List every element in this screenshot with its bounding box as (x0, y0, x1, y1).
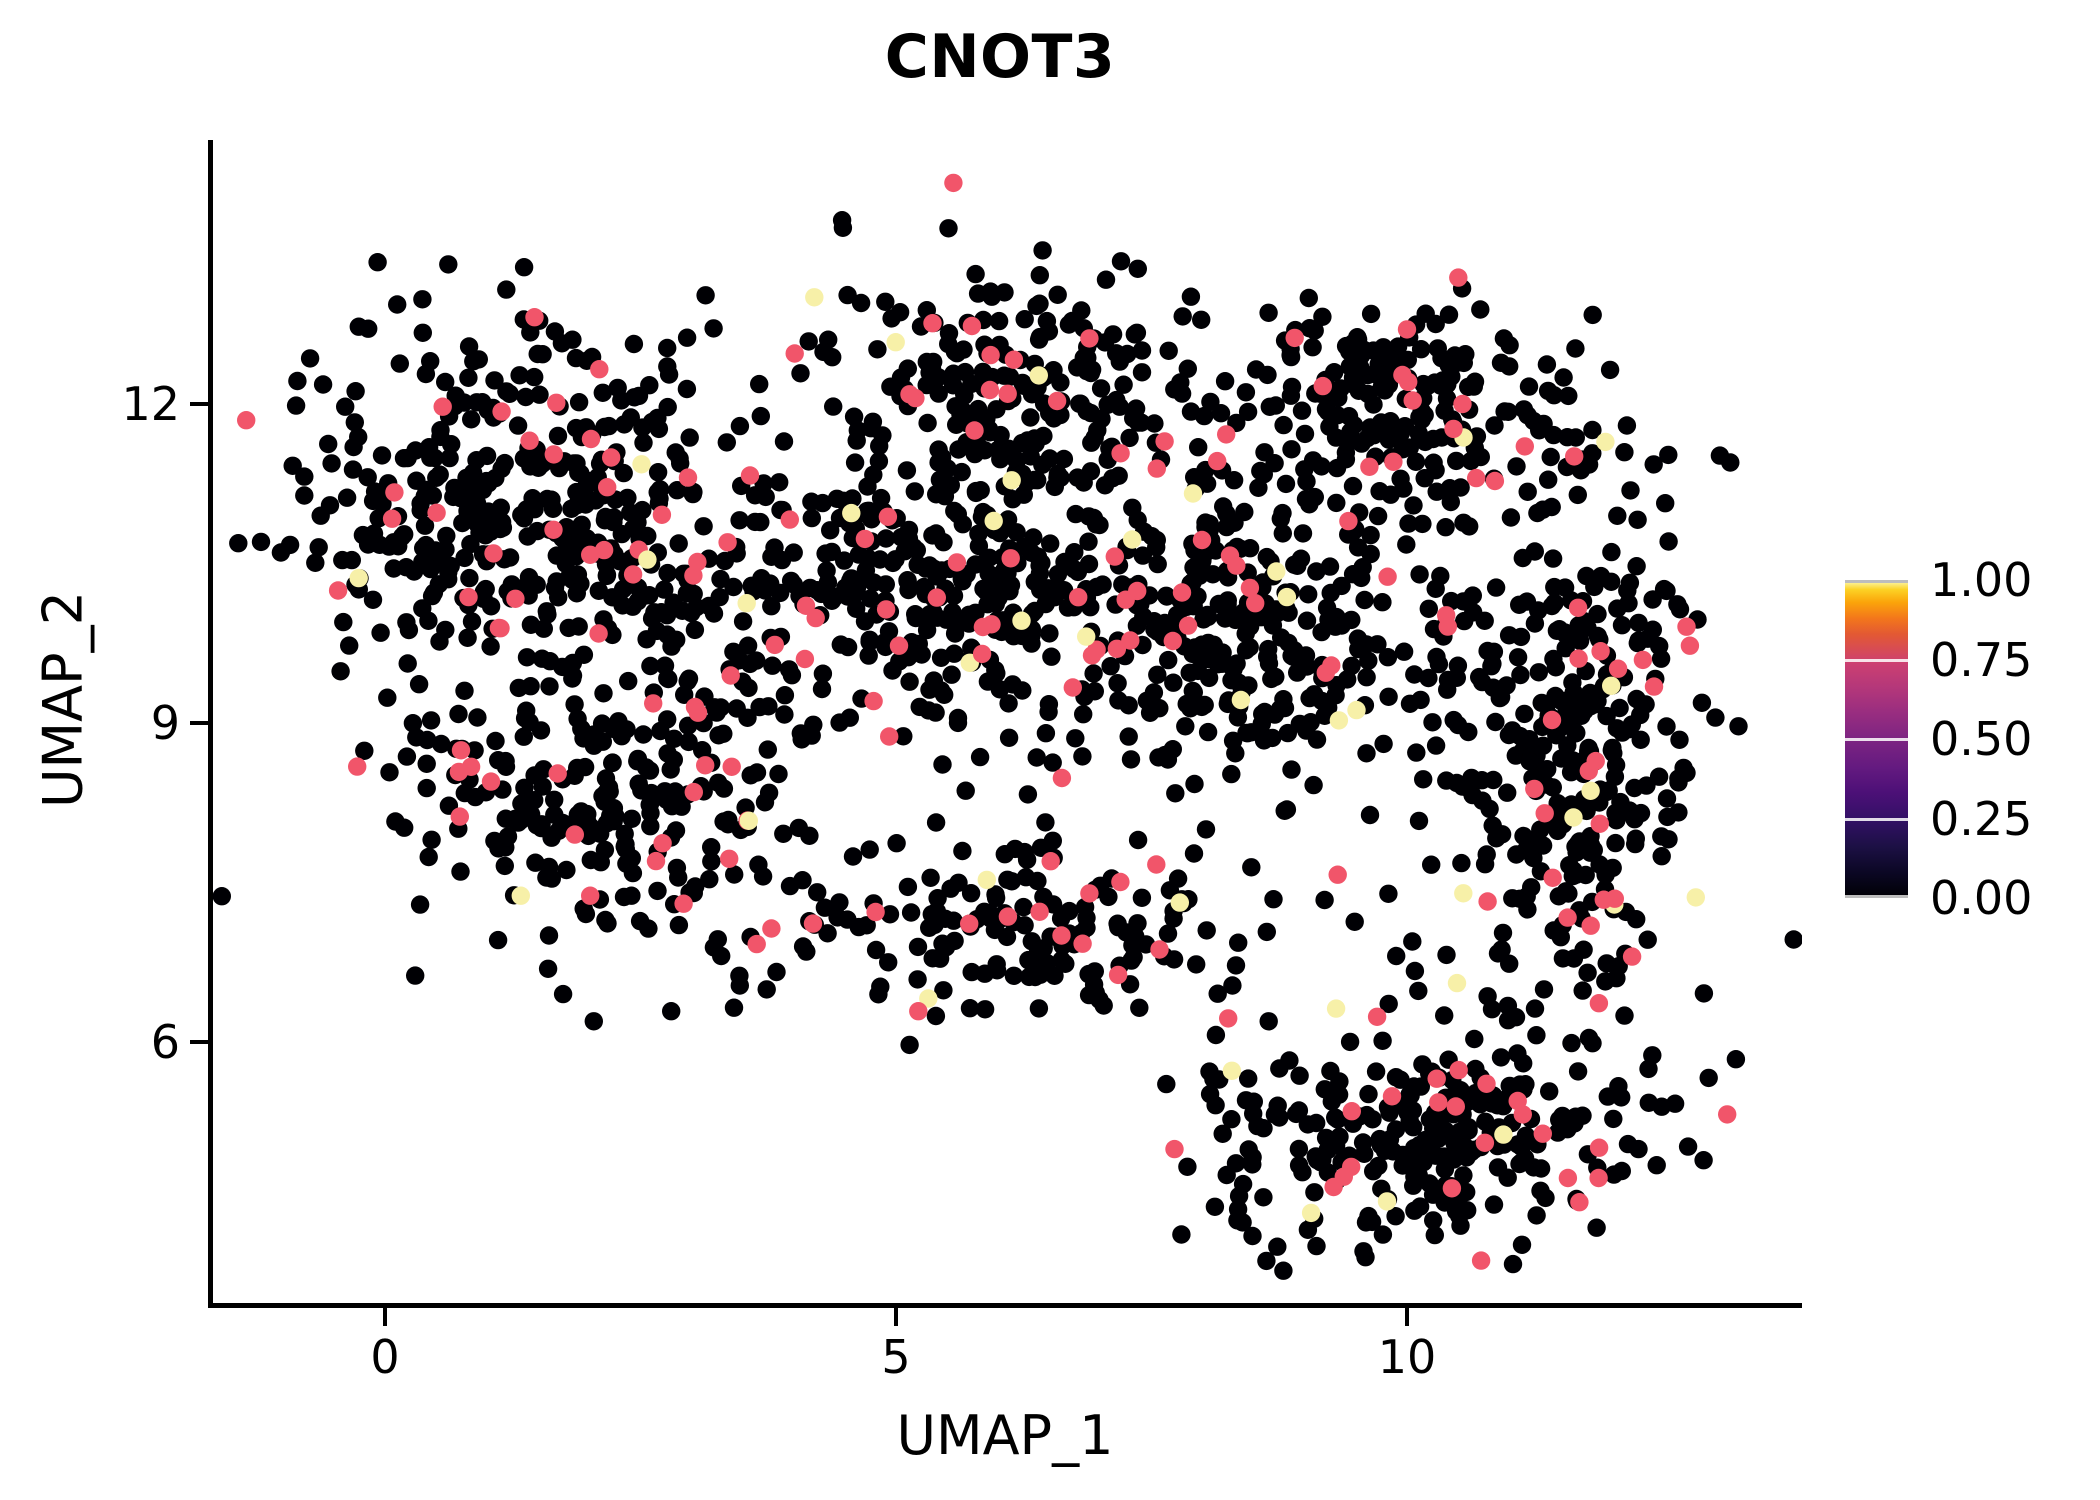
scatter-point (456, 784, 474, 802)
scatter-point (1700, 1069, 1718, 1087)
scatter-point (898, 571, 916, 589)
scatter-point (1361, 806, 1379, 824)
scatter-point (554, 985, 572, 1003)
scatter-point (523, 489, 541, 507)
scatter-point (666, 782, 684, 800)
scatter-point (953, 842, 971, 860)
scatter-point (1378, 568, 1396, 586)
scatter-point (1321, 557, 1339, 575)
scatter-point (819, 573, 837, 591)
scatter-point (1695, 984, 1713, 1002)
scatter-point (1477, 1075, 1495, 1093)
scatter-point (1507, 457, 1525, 475)
scatter-point (637, 758, 655, 776)
scatter-point (1424, 1119, 1442, 1137)
scatter-point (1075, 473, 1093, 491)
scatter-point (899, 359, 917, 377)
scatter-point (824, 397, 842, 415)
scatter-point (1073, 747, 1091, 765)
scatter-point (411, 494, 429, 512)
scatter-point (368, 253, 386, 271)
y-tick-mark (190, 721, 208, 725)
scatter-point (1274, 690, 1292, 708)
scatter-point (1509, 648, 1527, 666)
scatter-point (1293, 402, 1311, 420)
scatter-point (985, 512, 1003, 530)
scatter-point (1266, 668, 1284, 686)
scatter-point (770, 473, 788, 491)
scatter-point (496, 454, 514, 472)
scatter-point (547, 394, 565, 412)
scatter-point (1155, 432, 1173, 450)
scatter-point (725, 865, 743, 883)
scatter-point (902, 903, 920, 921)
scatter-point (484, 544, 502, 562)
scatter-point (1040, 624, 1058, 642)
scatter-point (1532, 1159, 1550, 1177)
scatter-point (1539, 382, 1557, 400)
scatter-point (625, 335, 643, 353)
scatter-point (525, 791, 543, 809)
scatter-point (767, 963, 785, 981)
scatter-point (397, 613, 415, 631)
scatter-point (1164, 632, 1182, 650)
scatter-point (455, 682, 473, 700)
scatter-point (1531, 1182, 1549, 1200)
scatter-point (832, 635, 850, 653)
scatter-point (1003, 471, 1021, 489)
scatter-point (1080, 884, 1098, 902)
scatter-point (1123, 499, 1141, 517)
scatter-point (1619, 1135, 1637, 1153)
scatter-point (437, 527, 455, 545)
scatter-point (900, 385, 918, 403)
scatter-point (1042, 852, 1060, 870)
scatter-point (1108, 674, 1126, 692)
scatter-point (898, 461, 916, 479)
scatter-point (920, 919, 938, 937)
scatter-point (1361, 526, 1379, 544)
scatter-point (1584, 306, 1602, 324)
scatter-point (1460, 517, 1478, 535)
scatter-point (1069, 588, 1087, 606)
scatter-point (1499, 403, 1517, 421)
scatter-point (1111, 444, 1129, 462)
scatter-point (722, 666, 740, 684)
scatter-point (1015, 843, 1033, 861)
scatter-point (814, 343, 832, 361)
scatter-point (949, 505, 967, 523)
scatter-point (738, 594, 756, 612)
scatter-point (1033, 241, 1051, 259)
scatter-point (975, 554, 993, 572)
scatter-point (491, 619, 509, 637)
scatter-point (355, 742, 373, 760)
scatter-point (949, 714, 967, 732)
scatter-point (1404, 1144, 1422, 1162)
scatter-point (808, 883, 826, 901)
scatter-point (557, 861, 575, 879)
scatter-point (558, 539, 576, 557)
scatter-point (823, 592, 841, 610)
scatter-point (1581, 782, 1599, 800)
scatter-point (1404, 496, 1422, 514)
scatter-point (385, 483, 403, 501)
scatter-point (1005, 967, 1023, 985)
scatter-point (459, 472, 477, 490)
scatter-point (1148, 666, 1166, 684)
scatter-point (1064, 678, 1082, 696)
scatter-point (598, 567, 616, 585)
scatter-point (1374, 338, 1392, 356)
scatter-point (1002, 549, 1020, 567)
scatter-point (1450, 1061, 1468, 1079)
scatter-point (1278, 800, 1296, 818)
scatter-point (1373, 417, 1391, 435)
scatter-point (1606, 768, 1624, 786)
scatter-point (1219, 591, 1237, 609)
scatter-point (1198, 921, 1216, 939)
scatter-point (946, 624, 964, 642)
scatter-point (619, 672, 637, 690)
scatter-point (682, 604, 700, 622)
scatter-point (1565, 683, 1583, 701)
scatter-point (1517, 1127, 1535, 1145)
scatter-point (1258, 923, 1276, 941)
colorbar-tick-mark (1845, 895, 1908, 898)
scatter-point (364, 591, 382, 609)
scatter-point (1628, 511, 1646, 529)
scatter-point (1222, 1110, 1240, 1128)
scatter-point (496, 857, 514, 875)
scatter-point (344, 460, 362, 478)
scatter-point (1229, 934, 1247, 952)
scatter-point (1569, 1062, 1587, 1080)
scatter-point (1591, 642, 1609, 660)
scatter-point (553, 334, 571, 352)
scatter-point (1485, 1195, 1503, 1213)
scatter-point (891, 303, 909, 321)
scatter-point (1429, 1093, 1447, 1111)
scatter-point (378, 689, 396, 707)
scatter-point (1096, 476, 1114, 494)
scatter-point (720, 850, 738, 868)
scatter-point (686, 621, 704, 639)
scatter-point (510, 679, 528, 697)
scatter-point (1227, 1154, 1245, 1172)
scatter-point (1632, 804, 1650, 822)
scatter-point (272, 543, 290, 561)
scatter-point (1500, 955, 1518, 973)
scatter-point (1588, 605, 1606, 623)
scatter-point (999, 385, 1017, 403)
scatter-point (1129, 260, 1147, 278)
scatter-point (918, 414, 936, 432)
scatter-point (1674, 759, 1692, 777)
scatter-point (1639, 931, 1657, 949)
scatter-point (1554, 368, 1572, 386)
scatter-point (645, 603, 663, 621)
x-tick-mark (894, 1308, 898, 1326)
scatter-point (1409, 982, 1427, 1000)
scatter-point (597, 784, 615, 802)
scatter-point (1108, 915, 1126, 933)
scatter-point (678, 380, 696, 398)
scatter-point (927, 1007, 945, 1025)
scatter-point (679, 468, 697, 486)
scatter-point (573, 516, 591, 534)
scatter-point (1329, 866, 1347, 884)
scatter-point (981, 346, 999, 364)
scatter-point (1785, 930, 1803, 948)
x-tick-label: 0 (370, 1334, 399, 1380)
scatter-point (1591, 815, 1609, 833)
scatter-point (1145, 683, 1163, 701)
scatter-point (1330, 1085, 1348, 1103)
x-tick-mark (1405, 1308, 1409, 1326)
scatter-point (1562, 1034, 1580, 1052)
scatter-point (1347, 701, 1365, 719)
scatter-point (1478, 892, 1496, 910)
scatter-point (1304, 776, 1322, 794)
scatter-point (648, 882, 666, 900)
scatter-point (1401, 695, 1419, 713)
scatter-point (1286, 329, 1304, 347)
scatter-point (730, 511, 748, 529)
scatter-point (1540, 1082, 1558, 1100)
scatter-point (1313, 308, 1331, 326)
scatter-point (766, 636, 784, 654)
scatter-point (1507, 845, 1525, 863)
scatter-point (1206, 1096, 1224, 1114)
scatter-point (331, 662, 349, 680)
scatter-point (1222, 765, 1240, 783)
scatter-point (662, 637, 680, 655)
scatter-point (948, 553, 966, 571)
scatter-point (1500, 336, 1518, 354)
scatter-point (1030, 366, 1048, 384)
scatter-point (1459, 723, 1477, 741)
scatter-point (696, 286, 714, 304)
scatter-point (1305, 1183, 1323, 1201)
scatter-point (1606, 834, 1624, 852)
scatter-point (1048, 392, 1066, 410)
scatter-point (336, 398, 354, 416)
scatter-point (1587, 752, 1605, 770)
scatter-point (828, 908, 846, 926)
scatter-point (1687, 888, 1705, 906)
scatter-point (1666, 1095, 1684, 1113)
scatter-point (420, 438, 438, 456)
scatter-point (1407, 743, 1425, 761)
scatter-point (1285, 556, 1303, 574)
scatter-point (1296, 425, 1314, 443)
scatter-point (1243, 1227, 1261, 1245)
scatter-point (1527, 1026, 1545, 1044)
scatter-point (1086, 962, 1104, 980)
scatter-point (1513, 1236, 1531, 1254)
scatter-point (1609, 660, 1627, 678)
scatter-point (1085, 509, 1103, 527)
scatter-point (1437, 946, 1455, 964)
scatter-point (763, 657, 781, 675)
scatter-point (449, 705, 467, 723)
scatter-point (395, 449, 413, 467)
scatter-point (688, 553, 706, 571)
scatter-point (310, 538, 328, 556)
scatter-point (1109, 691, 1127, 709)
scatter-point (714, 725, 732, 743)
scatter-point (1298, 612, 1316, 630)
scatter-point (1216, 372, 1234, 390)
scatter-point (1290, 1067, 1308, 1085)
scatter-point (876, 293, 894, 311)
scatter-point (427, 504, 445, 522)
scatter-point (1471, 300, 1489, 318)
scatter-point (724, 578, 742, 596)
scatter-point (422, 831, 440, 849)
scatter-point (1428, 1070, 1446, 1088)
scatter-point (967, 482, 985, 500)
scatter-point (658, 339, 676, 357)
scatter-point (1416, 433, 1434, 451)
scatter-point (383, 510, 401, 528)
scatter-point (1024, 528, 1042, 546)
scatter-point (1657, 717, 1675, 735)
scatter-point (669, 868, 687, 886)
scatter-plot-area (208, 140, 1802, 1308)
scatter-point (986, 661, 1004, 679)
scatter-point (790, 819, 808, 837)
scatter-point (492, 402, 510, 420)
scatter-point (582, 851, 600, 869)
scatter-point (877, 600, 895, 618)
scatter-point (1472, 1251, 1490, 1269)
scatter-point (1405, 1202, 1423, 1220)
scatter-point (1384, 453, 1402, 471)
scatter-point (1225, 471, 1243, 489)
scatter-point (1419, 669, 1437, 687)
scatter-point (1516, 437, 1534, 455)
scatter-point (1300, 289, 1318, 307)
scatter-point (1173, 583, 1191, 601)
scatter-point (836, 578, 854, 596)
scatter-point (1543, 711, 1561, 729)
scatter-point (1237, 383, 1255, 401)
scatter-point (653, 506, 671, 524)
scatter-point (1028, 471, 1046, 489)
scatter-point (999, 694, 1017, 712)
scatter-point (966, 265, 984, 283)
scatter-point (631, 912, 649, 930)
scatter-point (1498, 784, 1516, 802)
scatter-point (623, 810, 641, 828)
scatter-point (1416, 406, 1434, 424)
scatter-point (1552, 749, 1570, 767)
scatter-point (1274, 416, 1292, 434)
scatter-point (1539, 471, 1557, 489)
scatter-point (1526, 999, 1544, 1017)
scatter-point (1241, 539, 1259, 557)
scatter-point (996, 845, 1014, 863)
scatter-point (1126, 325, 1144, 343)
scatter-point (395, 525, 413, 543)
scatter-point (1636, 695, 1654, 713)
scatter-point (1099, 888, 1117, 906)
scatter-point (780, 660, 798, 678)
scatter-point (982, 909, 1000, 927)
scatter-point (641, 657, 659, 675)
scatter-point (1109, 966, 1127, 984)
scatter-point (1444, 420, 1462, 438)
scatter-point (1569, 599, 1587, 617)
scatter-point (1706, 708, 1724, 726)
scatter-point (738, 709, 756, 727)
scatter-point (1145, 414, 1163, 432)
scatter-point (1299, 1221, 1317, 1239)
scatter-point (1031, 266, 1049, 284)
scatter-point (1727, 1050, 1745, 1068)
scatter-point (1623, 947, 1641, 965)
scatter-point (570, 617, 588, 635)
scatter-point (1084, 664, 1102, 682)
scatter-point (489, 931, 507, 949)
scatter-point (1370, 482, 1388, 500)
scatter-point (1609, 1077, 1627, 1095)
scatter-point (391, 354, 409, 372)
scatter-point (1546, 687, 1564, 705)
scatter-point (603, 754, 621, 772)
scatter-point (1270, 1108, 1288, 1126)
page-title: CNOT3 (0, 22, 2000, 92)
scatter-point (1401, 1086, 1419, 1104)
scatter-point (860, 633, 878, 651)
scatter-point (516, 709, 534, 727)
scatter-point (1451, 1217, 1469, 1235)
scatter-point (1711, 446, 1729, 464)
scatter-point (670, 916, 688, 934)
colorbar: 1.000.750.500.250.00 (1845, 580, 2085, 900)
scatter-point (1604, 1110, 1622, 1128)
scatter-point (1669, 803, 1687, 821)
scatter-point (405, 562, 423, 580)
scatter-point (1241, 638, 1259, 656)
scatter-point (1492, 1048, 1510, 1066)
scatter-point (1424, 454, 1442, 472)
scatter-point (529, 455, 547, 473)
scatter-point (642, 792, 660, 810)
scatter-point (1239, 403, 1257, 421)
scatter-point (421, 352, 439, 370)
scatter-point (1623, 715, 1641, 733)
scatter-point (709, 930, 727, 948)
scatter-point (1544, 869, 1562, 887)
scatter-point (570, 393, 588, 411)
scatter-point (800, 332, 818, 350)
scatter-point (1041, 449, 1059, 467)
scatter-point (1312, 457, 1330, 475)
scatter-point (1443, 1179, 1461, 1197)
scatter-point (450, 763, 468, 781)
scatter-point (866, 903, 884, 921)
scatter-point (1627, 910, 1645, 928)
scatter-point (1403, 932, 1421, 950)
scatter-point (1379, 648, 1397, 666)
scatter-point (624, 864, 642, 882)
scatter-point (634, 725, 652, 743)
scatter-point (1619, 594, 1637, 612)
scatter-point (569, 464, 587, 482)
